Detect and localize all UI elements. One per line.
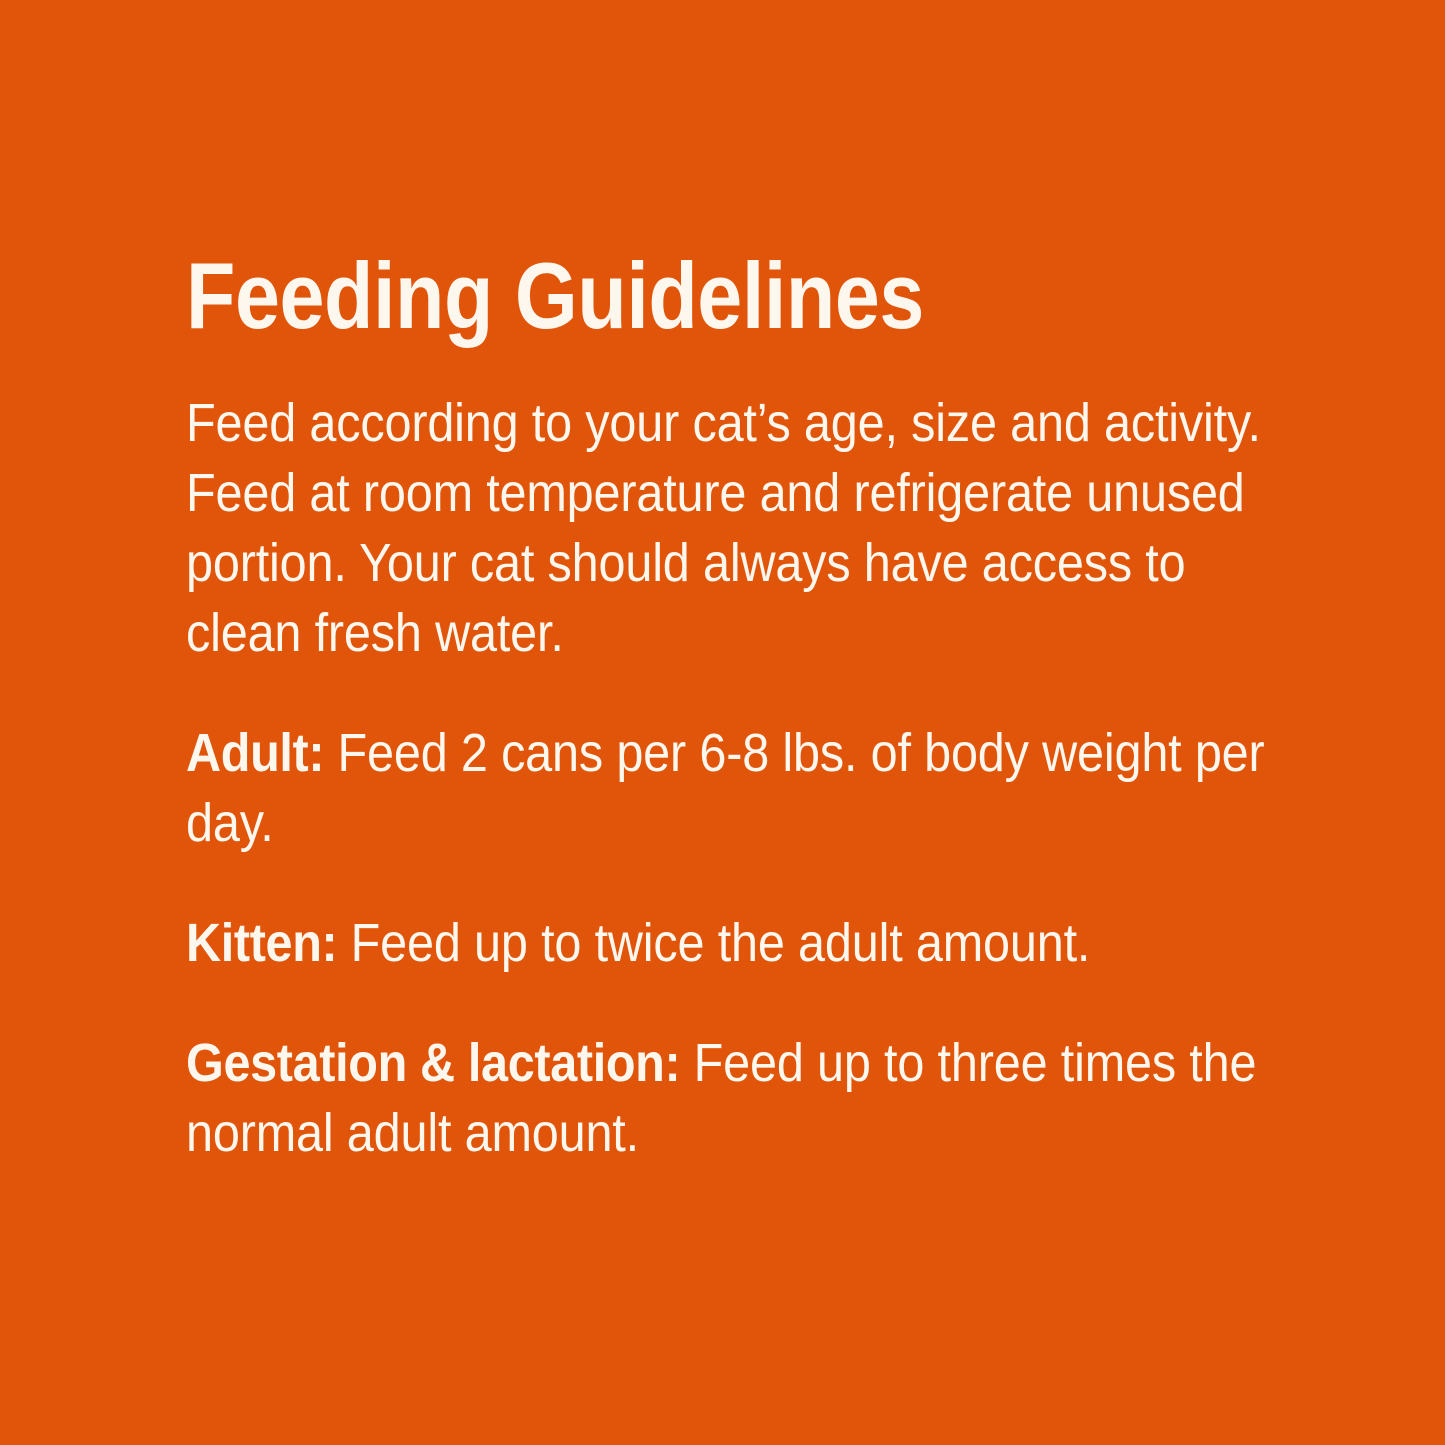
page-title: Feeding Guidelines bbox=[186, 248, 1166, 344]
guideline-block-kitten: Kitten: Feed up to twice the adult amoun… bbox=[186, 908, 1271, 978]
guideline-intro-text: Feed according to your cat’s age, size a… bbox=[186, 393, 1261, 663]
guideline-intro-paragraph: Feed according to your cat’s age, size a… bbox=[186, 388, 1271, 668]
guideline-block-gestation-lactation: Gestation & lactation: Feed up to three … bbox=[186, 1028, 1271, 1168]
feeding-guidelines-panel: Feeding Guidelines Feed according to you… bbox=[0, 0, 1445, 1445]
guideline-text-adult: Feed 2 cans per 6-8 lbs. of body weight … bbox=[186, 723, 1265, 853]
guideline-text-kitten: Feed up to twice the adult amount. bbox=[337, 913, 1090, 973]
guideline-label-adult: Adult: bbox=[186, 723, 324, 783]
guideline-block-adult: Adult: Feed 2 cans per 6-8 lbs. of body … bbox=[186, 718, 1271, 858]
guideline-label-kitten: Kitten: bbox=[186, 913, 337, 973]
guideline-label-gestation-lactation: Gestation & lactation: bbox=[186, 1033, 680, 1093]
